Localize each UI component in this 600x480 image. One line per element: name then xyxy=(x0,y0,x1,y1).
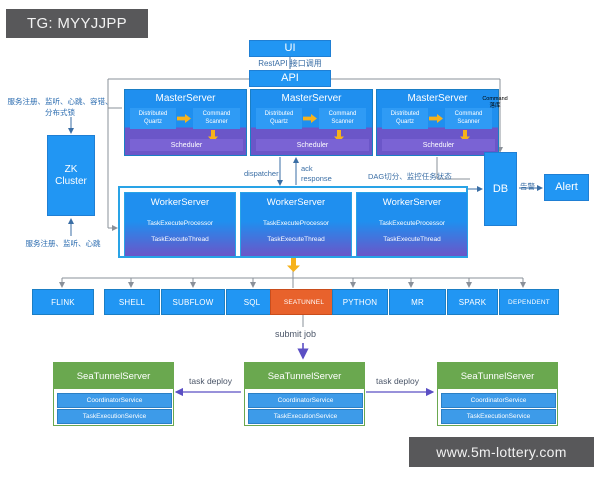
ack-response-edge-label: ack response xyxy=(301,164,332,184)
alert-node[interactable]: Alert xyxy=(544,174,589,201)
arrow-right-icon xyxy=(177,114,191,123)
task-type-shell-label: SHELL xyxy=(119,298,145,307)
distributed-quartz-2[interactable]: Distributed Quartz xyxy=(256,108,302,129)
seatunnel-server-3[interactable]: SeaTunnelServer CoordinatorService TaskE… xyxy=(437,362,558,426)
alert-edge-label: 告警 xyxy=(520,182,535,192)
worker-server-3[interactable]: WorkerServer TaskExecuteProcessor TaskEx… xyxy=(356,192,468,257)
task-type-subflow-label: SUBFLOW xyxy=(173,298,214,307)
task-type-seatunnel-label: SEATUNNEL xyxy=(284,299,324,306)
worker-server-2[interactable]: WorkerServer TaskExecuteProcessor TaskEx… xyxy=(240,192,352,257)
seatunnel-server-3-title: SeaTunnelServer xyxy=(438,363,557,389)
alert-node-label: Alert xyxy=(555,181,578,194)
api-node-label: API xyxy=(281,72,299,85)
master-server-1[interactable]: MasterServer Distributed Quartz Command … xyxy=(124,89,247,156)
arrow-right-icon xyxy=(429,114,443,123)
task-execute-processor-1: TaskExecuteProcessor xyxy=(128,220,232,227)
task-type-subflow[interactable]: SUBFLOW xyxy=(161,289,225,315)
task-execution-service-3[interactable]: TaskExecutionService xyxy=(441,409,556,424)
task-type-spark[interactable]: SPARK xyxy=(447,289,498,315)
task-type-python[interactable]: PYTHON xyxy=(332,289,388,315)
master-server-1-title: MasterServer xyxy=(125,93,246,104)
restapi-edge-label: RestAPI 接口调用 xyxy=(239,58,341,70)
db-node[interactable]: DB xyxy=(484,152,517,226)
task-execute-processor-3: TaskExecuteProcessor xyxy=(360,220,464,227)
submit-job-edge-label: submit job xyxy=(275,329,316,339)
master-server-2[interactable]: MasterServer Distributed Quartz Command … xyxy=(250,89,373,156)
task-type-mr[interactable]: MR xyxy=(389,289,446,315)
task-type-spark-label: SPARK xyxy=(459,298,487,307)
distributed-quartz-1[interactable]: Distributed Quartz xyxy=(130,108,176,129)
task-type-seatunnel[interactable]: SEATUNNEL xyxy=(270,289,338,315)
zk-note-top: 服务注册、监听、心跳、容错、分布式锁 xyxy=(6,96,114,119)
command-scanner-1[interactable]: Command Scanner xyxy=(193,108,240,129)
task-type-dependent[interactable]: DEPENDENT xyxy=(499,289,559,315)
site-watermark: www.5m-lottery.com xyxy=(409,437,594,467)
seatunnel-server-1-title: SeaTunnelServer xyxy=(54,363,173,389)
scheduler-1[interactable]: Scheduler xyxy=(130,139,243,151)
seatunnel-server-2-title: SeaTunnelServer xyxy=(245,363,364,389)
command-scanner-3[interactable]: Command Scanner xyxy=(445,108,492,129)
coordinator-service-3[interactable]: CoordinatorService xyxy=(441,393,556,408)
task-execute-thread-1: TaskExecuteThread xyxy=(128,236,232,243)
db-node-label: DB xyxy=(493,183,508,196)
task-type-flink-label: FLINK xyxy=(51,298,75,307)
task-execute-thread-3: TaskExecuteThread xyxy=(360,236,464,243)
coordinator-service-2[interactable]: CoordinatorService xyxy=(248,393,363,408)
command-scanner-2[interactable]: Command Scanner xyxy=(319,108,366,129)
zk-cluster-node[interactable]: ZK Cluster xyxy=(47,135,95,216)
api-node[interactable]: API xyxy=(249,70,331,87)
coordinator-service-1[interactable]: CoordinatorService xyxy=(57,393,172,408)
scheduler-2[interactable]: Scheduler xyxy=(256,139,369,151)
ui-node[interactable]: UI xyxy=(249,40,331,57)
seatunnel-server-2[interactable]: SeaTunnelServer CoordinatorService TaskE… xyxy=(244,362,365,426)
arrow-right-icon xyxy=(303,114,317,123)
task-type-python-label: PYTHON xyxy=(343,298,378,307)
telegram-watermark: TG: MYYJJPP xyxy=(6,9,148,38)
task-deploy-left-label: task deploy xyxy=(189,376,232,386)
task-execute-thread-2: TaskExecuteThread xyxy=(244,236,348,243)
dispatcher-edge-label: dispatcher xyxy=(244,169,279,179)
ack-edge-label-line2: response xyxy=(301,174,332,184)
task-type-dependent-label: DEPENDENT xyxy=(508,299,550,306)
distributed-quartz-3[interactable]: Distributed Quartz xyxy=(382,108,428,129)
worker-server-2-title: WorkerServer xyxy=(241,197,351,208)
arrow-down-icon xyxy=(287,258,300,272)
task-type-sql-label: SQL xyxy=(244,298,261,307)
seatunnel-server-1[interactable]: SeaTunnelServer CoordinatorService TaskE… xyxy=(53,362,174,426)
worker-server-3-title: WorkerServer xyxy=(357,197,467,208)
master-server-2-title: MasterServer xyxy=(251,93,372,104)
worker-server-1[interactable]: WorkerServer TaskExecuteProcessor TaskEx… xyxy=(124,192,236,257)
worker-server-group: WorkerServer TaskExecuteProcessor TaskEx… xyxy=(118,186,468,258)
architecture-diagram-canvas: UI RestAPI 接口调用 API MasterServer Distrib… xyxy=(0,0,600,480)
task-type-flink[interactable]: FLINK xyxy=(32,289,94,315)
task-type-mr-label: MR xyxy=(411,298,424,307)
task-execution-service-2[interactable]: TaskExecutionService xyxy=(248,409,363,424)
zk-note-bottom: 服务注册、监听、心跳 xyxy=(6,238,120,249)
task-execute-processor-2: TaskExecuteProcessor xyxy=(244,220,348,227)
ack-edge-label-line1: ack xyxy=(301,164,332,174)
task-deploy-right-label: task deploy xyxy=(376,376,419,386)
dag-edge-label: DAG切分、监控任务状态 xyxy=(368,172,452,182)
zk-cluster-label: ZK Cluster xyxy=(51,164,91,187)
scheduler-3[interactable]: Scheduler xyxy=(382,139,495,151)
command-edge-label: Command 落库 xyxy=(480,96,510,110)
task-type-shell[interactable]: SHELL xyxy=(104,289,160,315)
ui-node-label: UI xyxy=(285,42,296,55)
worker-server-1-title: WorkerServer xyxy=(125,197,235,208)
task-execution-service-1[interactable]: TaskExecutionService xyxy=(57,409,172,424)
